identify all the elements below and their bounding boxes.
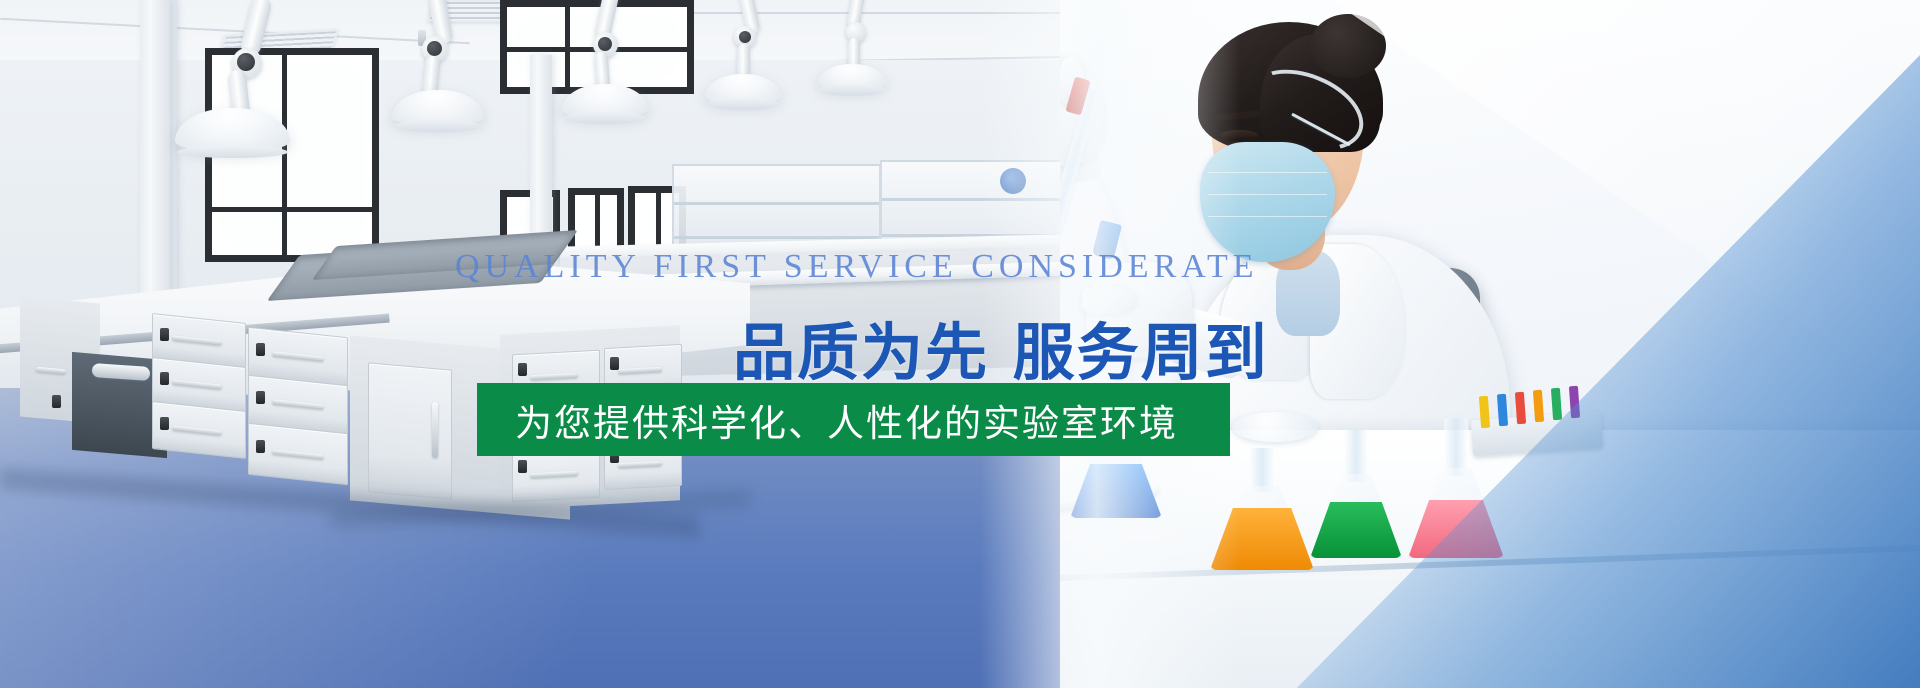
- english-tagline: QUALITY FIRST SERVICE CONSIDERATE: [455, 248, 1259, 286]
- hero-banner: QUALITY FIRST SERVICE CONSIDERATE 品质为先 服…: [0, 0, 1920, 688]
- green-subtitle-bar: 为您提供科学化、人性化的实验室环境: [477, 383, 1230, 456]
- text-overlay: QUALITY FIRST SERVICE CONSIDERATE 品质为先 服…: [0, 0, 1920, 688]
- subtitle-text: 为您提供科学化、人性化的实验室环境: [515, 393, 1178, 447]
- chinese-headline: 品质为先 服务周到: [733, 302, 1269, 392]
